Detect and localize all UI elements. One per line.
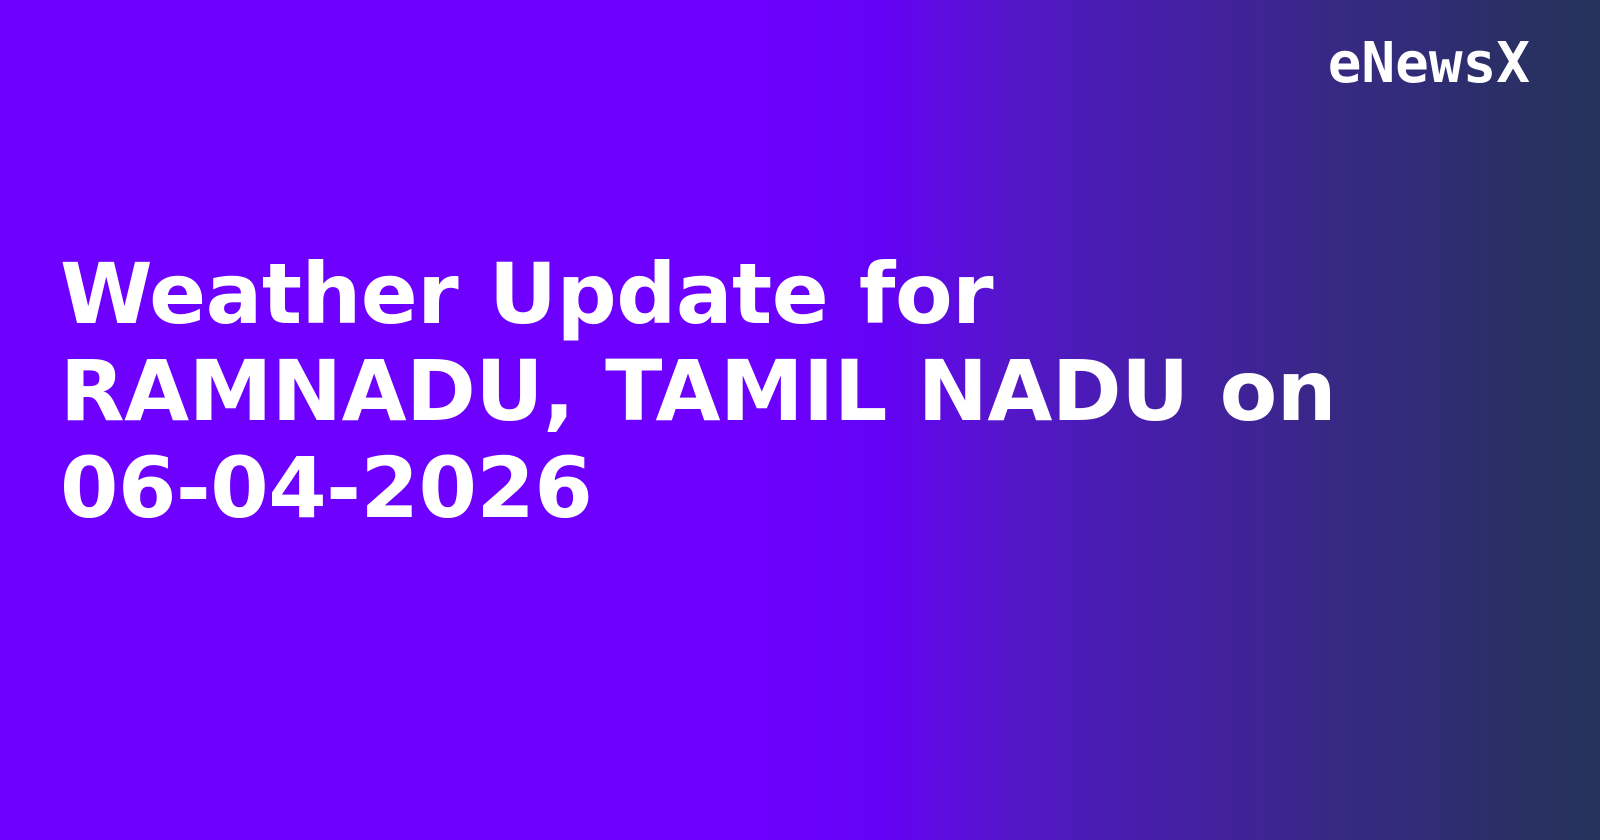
news-graphic-card: eNewsX Weather Update for RAMNADU, TAMIL… [0, 0, 1600, 840]
enewsx-logo: eNewsX [1328, 36, 1530, 92]
brand-header: eNewsX [0, 0, 1600, 128]
page-title: Weather Update for RAMNADU, TAMIL NADU o… [60, 246, 1390, 537]
headline-block: Weather Update for RAMNADU, TAMIL NADU o… [60, 246, 1390, 537]
